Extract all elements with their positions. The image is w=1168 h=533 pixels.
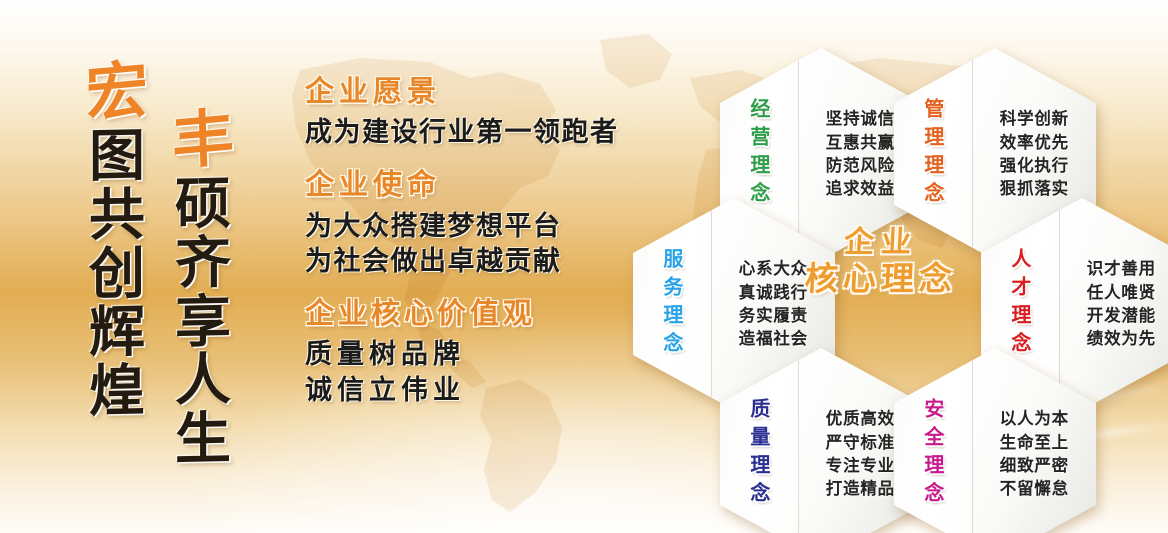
hexagon-content: 科学创新 效率优先 强化执行 狠抓落实 <box>1000 107 1069 201</box>
hexagon-label: 管理理念 <box>923 98 943 210</box>
calligraphy-char-accent-left: 丰 <box>171 107 235 173</box>
calligraphy-char: 图 <box>89 128 145 184</box>
calligraphy-char: 共 <box>89 187 145 243</box>
statement-mission: 企业使命 为大众搭建梦想平台 为社会做出卓越贡献 <box>305 167 635 279</box>
calligraphy-char: 享 <box>175 294 231 350</box>
hexagon-label: 质量理念 <box>749 398 769 510</box>
statement-vision-heading: 企业愿景 <box>305 74 635 109</box>
calligraphy-char: 齐 <box>175 235 231 291</box>
hexagon-safety-philosophy[interactable]: 安全理念 以人为本 生命至上 细致严密 不留懈怠 <box>894 348 1096 533</box>
hexagon-content: 识才善用 任人唯贤 开发潜能 绩效为先 <box>1087 257 1156 351</box>
hexagon-label-panel: 管理理念 <box>894 48 973 260</box>
core-philosophy-hexagon-cluster: 经营理念 坚持诚信 互惠共赢 防范风险 追求效益 管理理念 科学创新 效率优先 … <box>636 48 1106 488</box>
calligraphy-char: 硕 <box>175 176 231 232</box>
statement-vision-line: 成为建设行业第一领跑者 <box>305 115 635 150</box>
statement-mission-heading: 企业使命 <box>305 167 635 202</box>
statement-mission-line: 为大众搭建梦想平台 <box>305 209 635 244</box>
calligraphy-char: 煌 <box>89 364 145 420</box>
hexagon-content: 心系大众 真诚践行 务实履责 造福社会 <box>739 257 808 351</box>
calligraphy-column-right: 宏 图 共 创 辉 煌 <box>86 62 148 423</box>
statement-core-values-heading: 企业核心价值观 <box>305 296 635 331</box>
statement-mission-line: 为社会做出卓越贡献 <box>305 244 635 279</box>
calligraphy-column-left: 丰 硕 齐 享 人 生 <box>172 110 234 471</box>
statement-core-values: 企业核心价值观 质量树品牌 诚信立伟业 <box>305 296 635 408</box>
calligraphy-char: 辉 <box>89 305 145 361</box>
hexagon-face: 质量理念 优质高效 严守标准 专注专业 打造精品 <box>720 348 922 533</box>
hexagon-label: 安全理念 <box>923 398 943 510</box>
culture-wall-canvas: 宏 图 共 创 辉 煌 丰 硕 齐 享 人 生 企业愿景 成为建设行业第一领跑者… <box>0 0 1168 533</box>
calligraphy-slogan: 宏 图 共 创 辉 煌 丰 硕 齐 享 人 生 <box>72 62 262 462</box>
hexagon-label-panel: 安全理念 <box>894 348 973 533</box>
statement-core-values-line: 质量树品牌 <box>305 337 635 372</box>
hexagon-label: 服务理念 <box>662 248 682 360</box>
hexagon-label: 人才理念 <box>1010 248 1030 360</box>
hexagon-content: 坚持诚信 互惠共赢 防范风险 追求效益 <box>826 107 895 201</box>
hexagon-label-panel: 服务理念 <box>633 198 712 410</box>
hexagon-quality-philosophy[interactable]: 质量理念 优质高效 严守标准 专注专业 打造精品 <box>720 348 922 533</box>
hexagon-label-panel: 质量理念 <box>720 348 799 533</box>
calligraphy-char: 人 <box>175 353 231 409</box>
hexagon-face: 安全理念 以人为本 生命至上 细致严密 不留懈怠 <box>894 348 1096 533</box>
hexagon-content: 以人为本 生命至上 细致严密 不留懈怠 <box>1000 407 1069 501</box>
statement-vision: 企业愿景 成为建设行业第一领跑者 <box>305 74 635 150</box>
statements-panel: 企业愿景 成为建设行业第一领跑者 企业使命 为大众搭建梦想平台 为社会做出卓越贡… <box>305 74 635 425</box>
statement-core-values-line: 诚信立伟业 <box>305 373 635 408</box>
hexagon-content-panel: 以人为本 生命至上 细致严密 不留懈怠 <box>973 348 1096 533</box>
calligraphy-char: 创 <box>89 246 145 302</box>
calligraphy-char: 生 <box>175 412 231 468</box>
hexagon-label: 经营理念 <box>749 98 769 210</box>
hexagon-content: 优质高效 严守标准 专注专业 打造精品 <box>826 407 895 501</box>
calligraphy-char-accent-right: 宏 <box>85 59 149 125</box>
